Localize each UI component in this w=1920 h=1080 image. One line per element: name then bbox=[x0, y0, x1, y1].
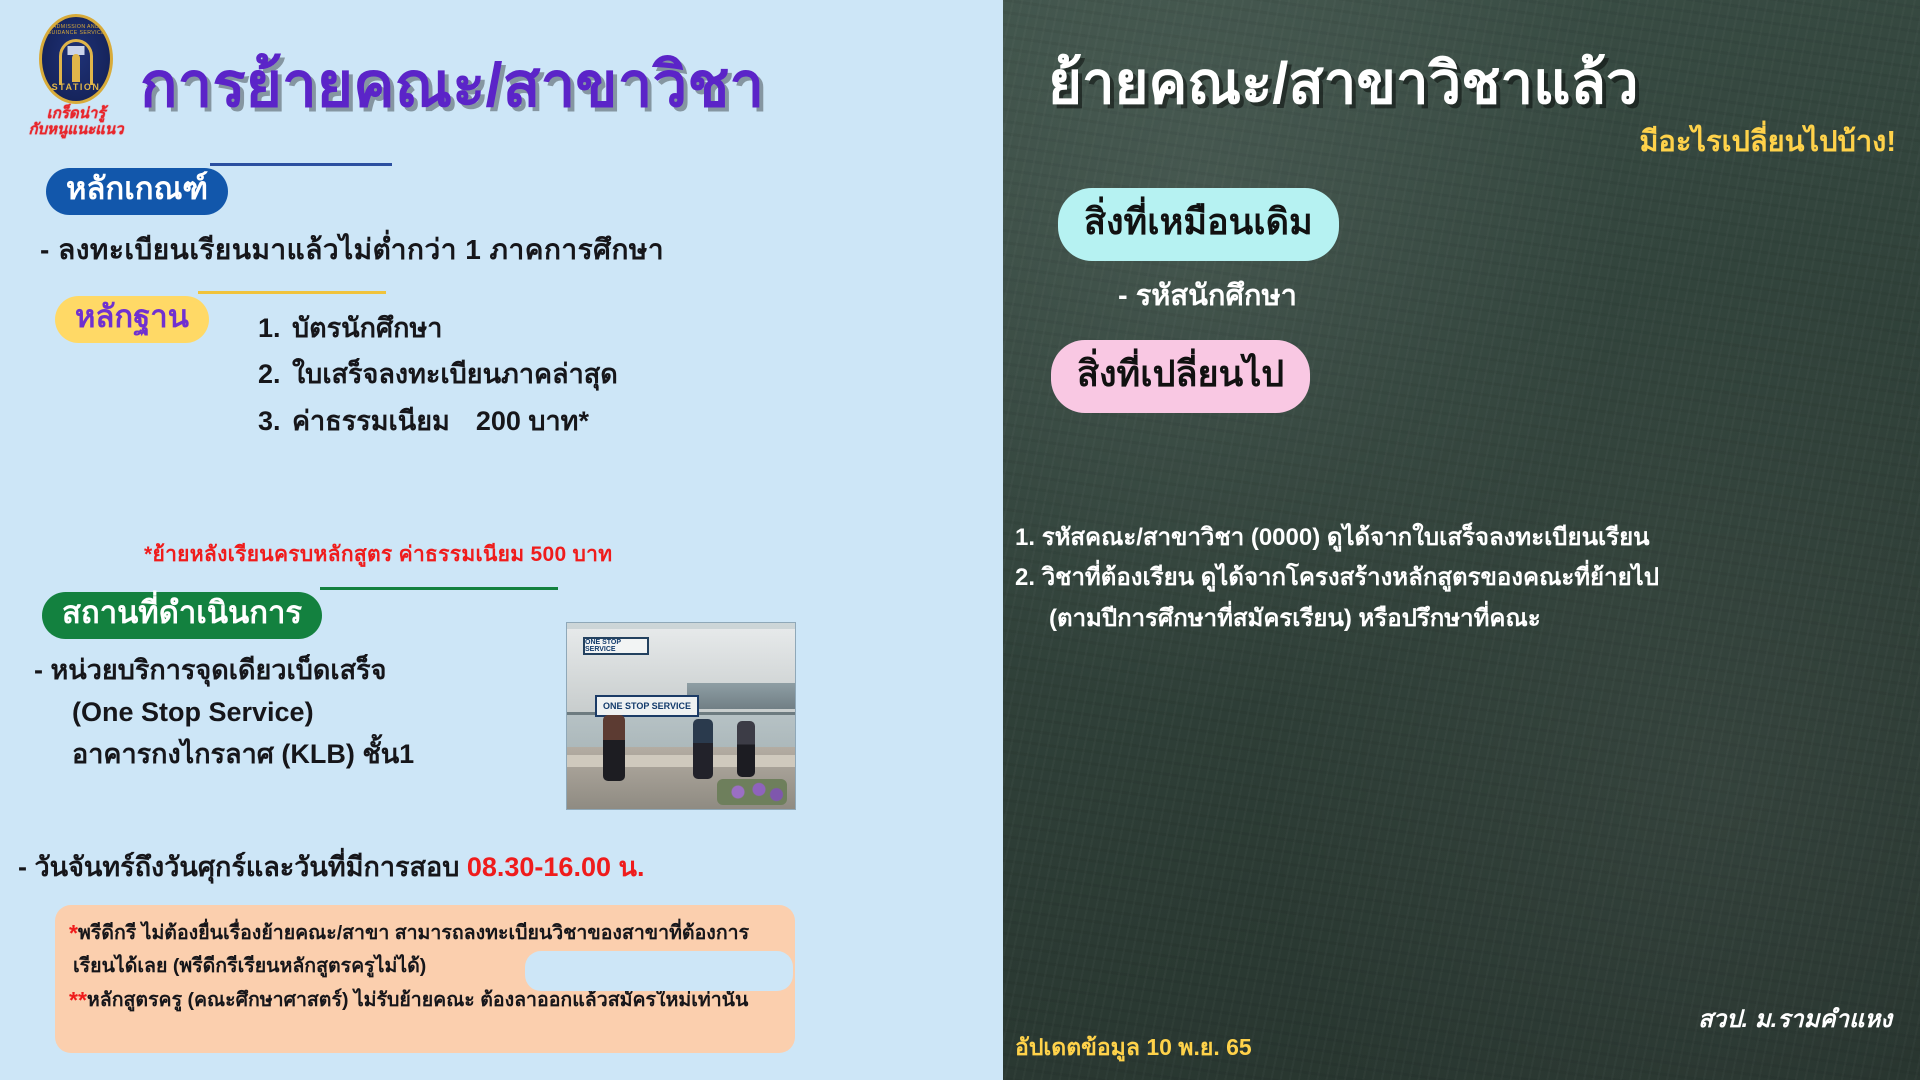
photo-person-2 bbox=[693, 719, 713, 779]
asterisk-single-icon: * bbox=[69, 920, 78, 946]
footnote-1-text1: พรีดีกรี ไม่ต้องยื่นเรื่องย้ายคณะ/สาขา ส… bbox=[78, 922, 749, 944]
place-line-2: (One Stop Service) bbox=[34, 692, 414, 734]
evidence-item-3-number: 3. bbox=[258, 398, 292, 444]
photo-kerb bbox=[567, 755, 795, 767]
evidence-item-3: 3.ค่าธรรมเนียม200 บาท* bbox=[258, 398, 618, 444]
evidence-list: 1.บัตรนักศึกษา 2.ใบเสร็จลงทะเบียนภาคล่าส… bbox=[258, 305, 618, 444]
footnote-2-text: หลักสูตรครู (คณะศึกษาศาสตร์) ไม่รับย้ายค… bbox=[87, 989, 748, 1011]
evidence-item-3-text: ค่าธรรมเนียม bbox=[292, 406, 450, 436]
evidence-item-2: 2.ใบเสร็จลงทะเบียนภาคล่าสุด bbox=[258, 351, 618, 397]
photo-flowers bbox=[717, 779, 787, 805]
changed-item-2: 2. วิชาที่ต้องเรียน ดูได้จากโครงสร้างหลั… bbox=[1015, 558, 1659, 639]
changed-item-1-text: รหัสคณะ/สาขาวิชา (0000) ดูได้จากใบเสร็จล… bbox=[1042, 524, 1650, 551]
evidence-item-2-text: ใบเสร็จลงทะเบียนภาคล่าสุด bbox=[292, 359, 618, 389]
evidence-item-1-number: 1. bbox=[258, 305, 292, 351]
right-page-subtitle: มีอะไรเปลี่ยนไปบ้าง! bbox=[1639, 118, 1896, 164]
evidence-footnote: *ย้ายหลังเรียนครบหลักสูตร ค่าธรรมเนียม 5… bbox=[144, 538, 612, 571]
footer-update-date: อัปเดตข้อมูล 10 พ.ย. 65 bbox=[1015, 1030, 1252, 1066]
place-section: สถานที่ดำเนินการ bbox=[42, 592, 322, 639]
place-rule bbox=[320, 587, 558, 590]
changed-item-1: 1. รหัสคณะ/สาขาวิชา (0000) ดูได้จากใบเสร… bbox=[1015, 518, 1659, 558]
photo-person-3 bbox=[737, 721, 755, 777]
changed-item-2-number: 2. bbox=[1015, 564, 1035, 591]
evidence-badge: หลักฐาน bbox=[55, 296, 209, 343]
asterisk-double-icon: ** bbox=[69, 987, 87, 1013]
place-badge: สถานที่ดำเนินการ bbox=[42, 592, 322, 639]
changed-item-1-number: 1. bbox=[1015, 524, 1035, 551]
footer-organization: สวป. ม.รามคำแหง bbox=[1698, 999, 1892, 1038]
logo-badge-icon: ADMISSION AND GUIDANCE SERVICE STATION bbox=[39, 14, 113, 104]
poster-root: ADMISSION AND GUIDANCE SERVICE STATION เ… bbox=[0, 0, 1920, 1080]
evidence-item-1-text: บัตรนักศึกษา bbox=[292, 313, 442, 343]
criteria-badge: หลักเกณฑ์ bbox=[46, 168, 228, 215]
left-panel: ADMISSION AND GUIDANCE SERVICE STATION เ… bbox=[0, 0, 1003, 1080]
office-hours: - วันจันทร์ถึงวันศุกร์และวันที่มีการสอบ … bbox=[18, 845, 644, 888]
right-panel: ย้ายคณะ/สาขาวิชาแล้ว มีอะไรเปลี่ยนไปบ้าง… bbox=[1003, 0, 1920, 1080]
photo-sign-large: ONE STOP SERVICE bbox=[595, 695, 699, 717]
changed-things-badge: สิ่งที่เปลี่ยนไป bbox=[1051, 340, 1310, 413]
changed-item-2-text: วิชาที่ต้องเรียน ดูได้จากโครงสร้างหลักสู… bbox=[1042, 564, 1659, 591]
office-hours-time: 08.30-16.00 น. bbox=[467, 852, 645, 882]
photo-sign-small: ONE STOP SERVICE bbox=[583, 637, 649, 655]
criteria-section: หลักเกณฑ์ bbox=[46, 168, 228, 215]
logo-caption: เกร็ดน่ารู้ กับหนูแนะแนว bbox=[22, 106, 130, 138]
evidence-section: หลักฐาน bbox=[55, 296, 209, 343]
evidence-rule bbox=[198, 291, 386, 294]
left-page-title: การย้ายคณะ/สาขาวิชา bbox=[140, 36, 764, 134]
left-footnote-box: *พรีดีกรี ไม่ต้องยื่นเรื่องย้ายคณะ/สาขา … bbox=[55, 905, 795, 1053]
photo-awning bbox=[687, 683, 795, 709]
evidence-item-3-amount: 200 บาท* bbox=[476, 406, 589, 436]
footnote-1-line1: *พรีดีกรี ไม่ต้องยื่นเรื่องย้ายคณะ/สาขา … bbox=[69, 915, 781, 951]
office-hours-label: - วันจันทร์ถึงวันศุกร์และวันที่มีการสอบ bbox=[18, 852, 459, 882]
evidence-item-2-number: 2. bbox=[258, 351, 292, 397]
place-line-3: อาคารกงไกรลาศ (KLB) ชั้น1 bbox=[34, 734, 414, 776]
place-details: - หน่วยบริการจุดเดียวเบ็ดเสร็จ (One Stop… bbox=[34, 650, 414, 776]
organization-logo: ADMISSION AND GUIDANCE SERVICE STATION เ… bbox=[22, 14, 130, 138]
footnote-blue-patch bbox=[525, 951, 793, 991]
logo-station-text: STATION bbox=[42, 82, 110, 92]
place-line-1: - หน่วยบริการจุดเดียวเบ็ดเสร็จ bbox=[34, 650, 414, 692]
changed-things-list: 1. รหัสคณะ/สาขาวิชา (0000) ดูได้จากใบเสร… bbox=[1015, 518, 1659, 639]
one-stop-service-photo: ONE STOP SERVICE ONE STOP SERVICE bbox=[566, 622, 796, 810]
logo-caption-line1: เกร็ดน่ารู้ bbox=[22, 106, 130, 122]
same-things-item: - รหัสนักศึกษา bbox=[1118, 272, 1297, 318]
right-page-title: ย้ายคณะ/สาขาวิชาแล้ว bbox=[1048, 36, 1639, 129]
logo-pillar-icon bbox=[59, 39, 93, 85]
changed-item-2-sub: (ตามปีการศึกษาที่สมัครเรียน) หรือปรึกษาท… bbox=[1015, 599, 1659, 639]
photo-person-1 bbox=[603, 715, 625, 781]
logo-arc-text: ADMISSION AND GUIDANCE SERVICE bbox=[42, 24, 110, 36]
criteria-item: - ลงทะเบียนเรียนมาแล้วไม่ต่ำกว่า 1 ภาคกา… bbox=[40, 228, 664, 272]
same-things-badge: สิ่งที่เหมือนเดิม bbox=[1058, 188, 1339, 261]
evidence-item-1: 1.บัตรนักศึกษา bbox=[258, 305, 618, 351]
logo-caption-line2: กับหนูแนะแนว bbox=[22, 122, 130, 138]
criteria-rule bbox=[210, 163, 392, 166]
